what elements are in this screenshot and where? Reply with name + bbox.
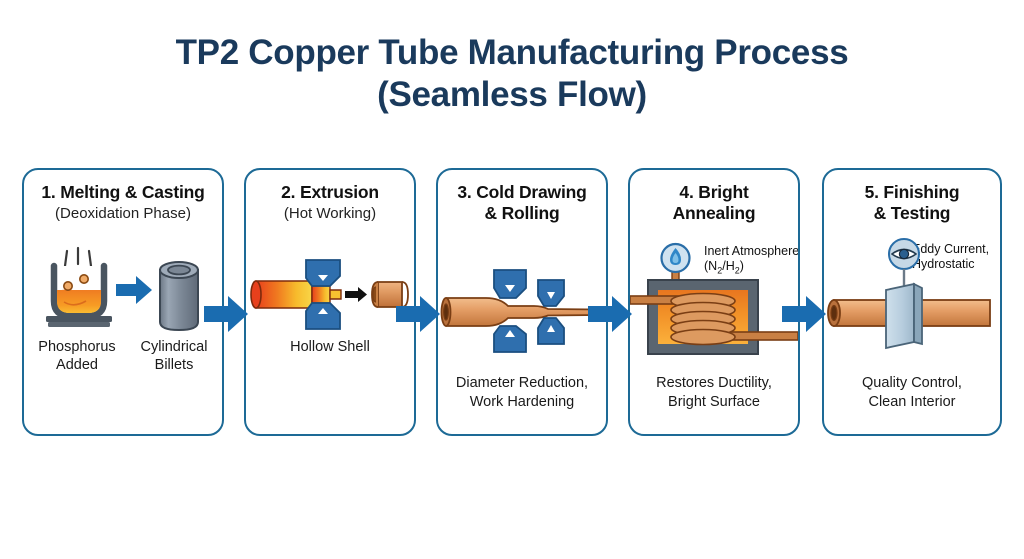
- eye-icon: [889, 239, 919, 269]
- step4-title-line-2: Annealing: [630, 203, 798, 224]
- arrow-step1-to-step2: [204, 296, 248, 332]
- step1-title: 1. Melting & Casting: [24, 182, 222, 203]
- step5-caption-line-1: Quality Control,: [824, 374, 1000, 393]
- step3-caption: Diameter Reduction, Work Hardening: [438, 374, 606, 412]
- crucible-icon: [46, 266, 112, 327]
- coil-icon: [671, 294, 735, 345]
- drawing-die-1-top-icon: [494, 270, 526, 298]
- title-line-2: (Seamless Flow): [0, 74, 1024, 116]
- arrow-step3-to-step4: [588, 296, 632, 332]
- step4-caption-line-2: Bright Surface: [630, 393, 798, 412]
- phosphorus-pellet-icon: [80, 275, 88, 283]
- step3-header: 3. Cold Drawing & Rolling: [438, 170, 606, 224]
- motion-lines-icon: [65, 248, 91, 266]
- step1-subtitle: (Deoxidation Phase): [24, 204, 222, 224]
- phosphorus-pellet-icon: [64, 282, 72, 290]
- step2-illustration: [246, 256, 414, 334]
- extrusion-die-top-icon: [306, 260, 340, 286]
- tube-icon: [442, 298, 599, 326]
- title-line-1: TP2 Copper Tube Manufacturing Process: [0, 32, 1024, 74]
- step-panel-extrusion[interactable]: 2. Extrusion (Hot Working): [244, 168, 416, 436]
- step-panel-bright-annealing[interactable]: 4. Bright Annealing Inert Atmosphere (N2…: [628, 168, 800, 436]
- step-panel-finishing-testing[interactable]: 5. Finishing & Testing Eddy Current, Hyd…: [822, 168, 1002, 436]
- step1-header: 1. Melting & Casting (Deoxidation Phase): [24, 170, 222, 224]
- annealing-furnace-graphic: [630, 240, 798, 360]
- step4-caption: Restores Ductility, Bright Surface: [630, 374, 798, 412]
- step2-label-hollow-shell: Hollow Shell: [246, 338, 414, 356]
- page-title: TP2 Copper Tube Manufacturing Process (S…: [0, 32, 1024, 116]
- step5-caption-line-2: Clean Interior: [824, 393, 1000, 412]
- cold-drawing-graphic: [438, 266, 606, 356]
- step5-title-line-2: & Testing: [824, 203, 1000, 224]
- step4-header: 4. Bright Annealing: [630, 170, 798, 224]
- step4-title-line-1: 4. Bright: [630, 182, 798, 203]
- step3-title-line-1: 3. Cold Drawing: [438, 182, 606, 203]
- step1-label-phosphorus: Phosphorus Added: [30, 338, 124, 374]
- step4-caption-line-1: Restores Ductility,: [630, 374, 798, 393]
- step5-title-line-1: 5. Finishing: [824, 182, 1000, 203]
- step5-caption: Quality Control, Clean Interior: [824, 374, 1000, 412]
- drawing-die-2-top-icon: [538, 280, 564, 306]
- inline-black-arrow-icon: [345, 287, 367, 302]
- flame-icon: [662, 244, 690, 272]
- crucible-billet-graphic: [24, 246, 222, 334]
- step2-header: 2. Extrusion (Hot Working): [246, 170, 414, 224]
- inline-arrow-icon: [116, 276, 152, 304]
- step3-title-line-2: & Rolling: [438, 203, 606, 224]
- step5-illustration: [824, 238, 1000, 356]
- extrusion-graphic: [246, 256, 414, 334]
- extrusion-die-bottom-icon: [306, 303, 340, 329]
- step5-header: 5. Finishing & Testing: [824, 170, 1000, 224]
- tube-outlet-icon: [726, 332, 798, 340]
- step-panel-melting-casting[interactable]: 1. Melting & Casting (Deoxidation Phase): [22, 168, 224, 436]
- arrow-step4-to-step5: [782, 296, 826, 332]
- step3-illustration: [438, 266, 606, 356]
- step-panel-cold-drawing[interactable]: 3. Cold Drawing & Rolling: [436, 168, 608, 436]
- step3-caption-line-1: Diameter Reduction,: [438, 374, 606, 393]
- step1-illustration: [24, 246, 222, 334]
- billet-icon: [160, 262, 198, 330]
- step1-label-billets: Cylindrical Billets: [128, 338, 220, 374]
- step4-illustration: [630, 240, 798, 360]
- drawing-die-2-bottom-icon: [538, 318, 564, 344]
- drawing-die-1-bottom-icon: [494, 326, 526, 352]
- step3-caption-line-2: Work Hardening: [438, 393, 606, 412]
- arrow-step2-to-step3: [396, 296, 440, 332]
- scanner-icon: [886, 284, 922, 348]
- step2-title: 2. Extrusion: [246, 182, 414, 203]
- diagram-root: TP2 Copper Tube Manufacturing Process (S…: [0, 0, 1024, 559]
- step2-subtitle: (Hot Working): [246, 204, 414, 224]
- inspection-graphic: [824, 238, 1000, 356]
- process-steps-row: 1. Melting & Casting (Deoxidation Phase): [0, 168, 1024, 438]
